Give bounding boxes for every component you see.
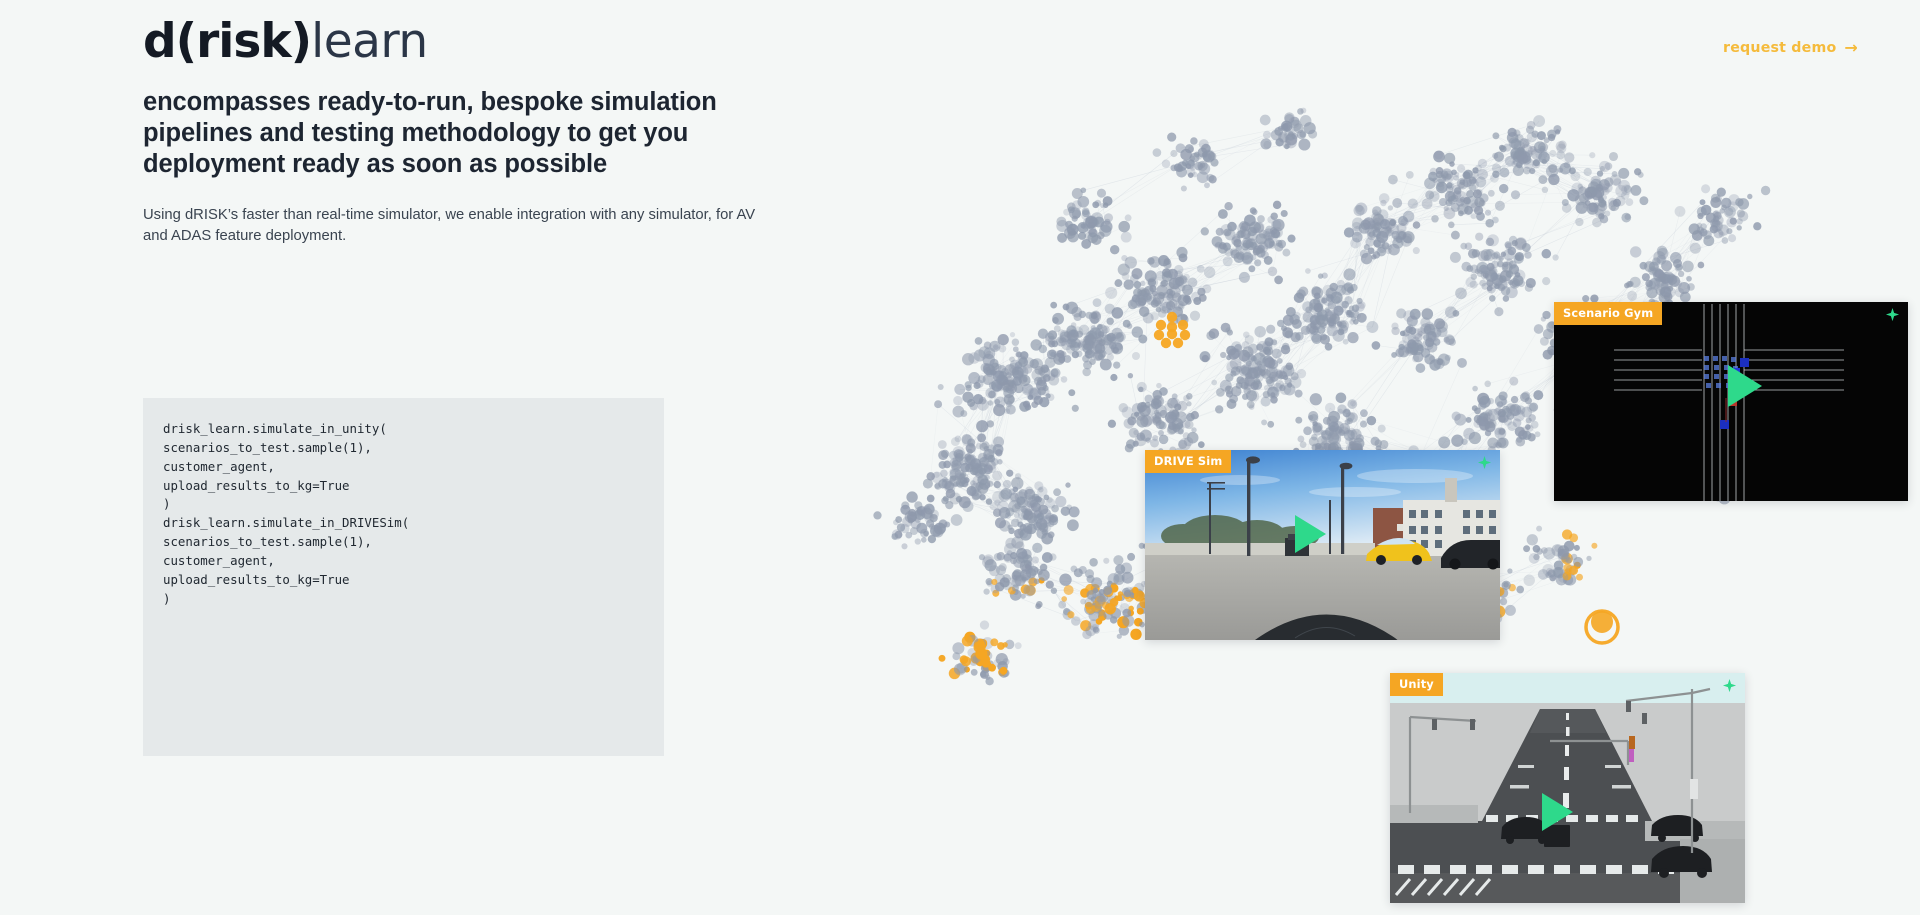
plus-icon[interactable] bbox=[1722, 678, 1737, 693]
play-button-drive-sim[interactable] bbox=[1295, 515, 1326, 553]
sim-badge-drive-sim: DRIVE Sim bbox=[1145, 450, 1231, 473]
hero-text-column: d(risk)learn encompasses ready-to-run, b… bbox=[143, 18, 843, 247]
brand-logo[interactable]: d(risk)learn bbox=[143, 18, 843, 65]
sim-badge-scenario-gym: Scenario Gym bbox=[1554, 302, 1662, 325]
knowledge-graph-stage: Scenario Gym bbox=[860, 40, 1920, 915]
unity-scene bbox=[1390, 673, 1745, 903]
sim-panel-unity[interactable]: Unity bbox=[1390, 673, 1745, 903]
page-headline: encompasses ready-to-run, bespoke simula… bbox=[143, 87, 763, 180]
code-sample-text: drisk_learn.simulate_in_unity( scenarios… bbox=[163, 420, 644, 608]
brand-logo-bold: d(risk) bbox=[143, 14, 311, 69]
code-sample-block: drisk_learn.simulate_in_unity( scenarios… bbox=[143, 398, 664, 756]
play-button-unity[interactable] bbox=[1542, 793, 1573, 831]
plus-icon[interactable] bbox=[1477, 455, 1492, 470]
play-button-scenario-gym[interactable] bbox=[1728, 365, 1762, 407]
sim-panel-scenario-gym[interactable]: Scenario Gym bbox=[1554, 302, 1908, 501]
sim-badge-unity: Unity bbox=[1390, 673, 1443, 696]
sim-panel-drive-sim[interactable]: DRIVE Sim bbox=[1145, 450, 1500, 640]
plus-icon[interactable] bbox=[1885, 307, 1900, 322]
hero-subcopy: Using dRISK’s faster than real-time simu… bbox=[143, 205, 763, 247]
brand-logo-light: learn bbox=[311, 14, 428, 69]
